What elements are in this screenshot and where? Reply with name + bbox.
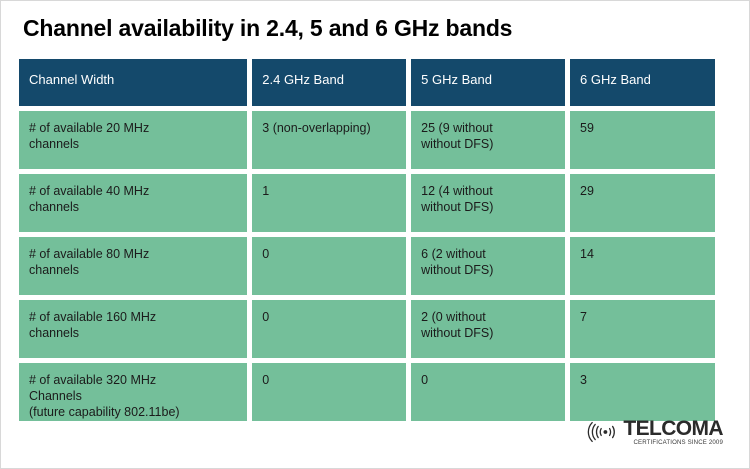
cell-24ghz-value: 0 [252,363,406,421]
cell-6ghz-value: 29 [570,174,715,232]
channel-width-line-3: (future capability 802.11be) [29,404,237,420]
table-row: # of available 80 MHz channels 0 6 (2 wi… [19,237,715,295]
cell-channel-width: # of available 20 MHz channels [19,111,247,169]
table-row: # of available 320 MHz Channels (future … [19,363,715,421]
cell-channel-width: # of available 160 MHz channels [19,300,247,358]
channel-width-line-2: channels [29,325,237,341]
channel-width-line-1: # of available 320 MHz [29,372,237,388]
cell-channel-width: # of available 40 MHz channels [19,174,247,232]
column-header-6ghz: 6 GHz Band [570,59,715,106]
page-title: Channel availability in 2.4, 5 and 6 GHz… [23,15,512,42]
telcoma-logo: TELCOMA CERTIFICATIONS SINCE 2009 [587,418,723,446]
cell-5ghz-value: 25 (9 without without DFS) [411,111,565,169]
cell-5ghz-value: 0 [411,363,565,421]
channel-width-line-1: # of available 80 MHz [29,246,237,262]
cell-5ghz-value: 6 (2 without without DFS) [411,237,565,295]
band-5-line-1: 12 (4 without [421,183,555,199]
column-header-24ghz: 2.4 GHz Band [252,59,406,106]
channel-width-line-1: # of available 20 MHz [29,120,237,136]
cell-channel-width: # of available 80 MHz channels [19,237,247,295]
band-5-line-1: 25 (9 without [421,120,555,136]
channel-width-line-2: Channels [29,388,237,404]
logo-text-block: TELCOMA CERTIFICATIONS SINCE 2009 [623,418,723,446]
cell-6ghz-value: 59 [570,111,715,169]
signal-dot-icon [604,430,608,434]
cell-24ghz-value: 3 (non-overlapping) [252,111,406,169]
band-5-line-2: without DFS) [421,262,555,278]
column-header-channel-width: Channel Width [19,59,247,106]
channel-width-line-2: channels [29,262,237,278]
channel-width-line-2: channels [29,199,237,215]
band-5-line-1: 2 (0 without [421,309,555,325]
cell-24ghz-value: 0 [252,237,406,295]
logo-tagline: CERTIFICATIONS SINCE 2009 [623,440,723,446]
cell-6ghz-value: 14 [570,237,715,295]
wireless-signal-icon [587,420,621,444]
channel-width-line-1: # of available 160 MHz [29,309,237,325]
band-5-line-2: without DFS) [421,136,555,152]
cell-5ghz-value: 2 (0 without without DFS) [411,300,565,358]
channel-width-line-2: channels [29,136,237,152]
table-header-row: Channel Width 2.4 GHz Band 5 GHz Band 6 … [19,59,715,106]
cell-5ghz-value: 12 (4 without without DFS) [411,174,565,232]
table-row: # of available 20 MHz channels 3 (non-ov… [19,111,715,169]
cell-24ghz-value: 0 [252,300,406,358]
slide-canvas: Channel availability in 2.4, 5 and 6 GHz… [0,0,750,469]
table-row: # of available 160 MHz channels 0 2 (0 w… [19,300,715,358]
cell-6ghz-value: 7 [570,300,715,358]
cell-channel-width: # of available 320 MHz Channels (future … [19,363,247,421]
table-row: # of available 40 MHz channels 1 12 (4 w… [19,174,715,232]
band-5-line-2: without DFS) [421,199,555,215]
channel-availability-table: Channel Width 2.4 GHz Band 5 GHz Band 6 … [19,59,715,426]
column-header-5ghz: 5 GHz Band [411,59,565,106]
band-5-line-2: without DFS) [421,325,555,341]
logo-name: TELCOMA [623,418,723,439]
cell-24ghz-value: 1 [252,174,406,232]
channel-width-line-1: # of available 40 MHz [29,183,237,199]
band-5-line-1: 6 (2 without [421,246,555,262]
cell-6ghz-value: 3 [570,363,715,421]
